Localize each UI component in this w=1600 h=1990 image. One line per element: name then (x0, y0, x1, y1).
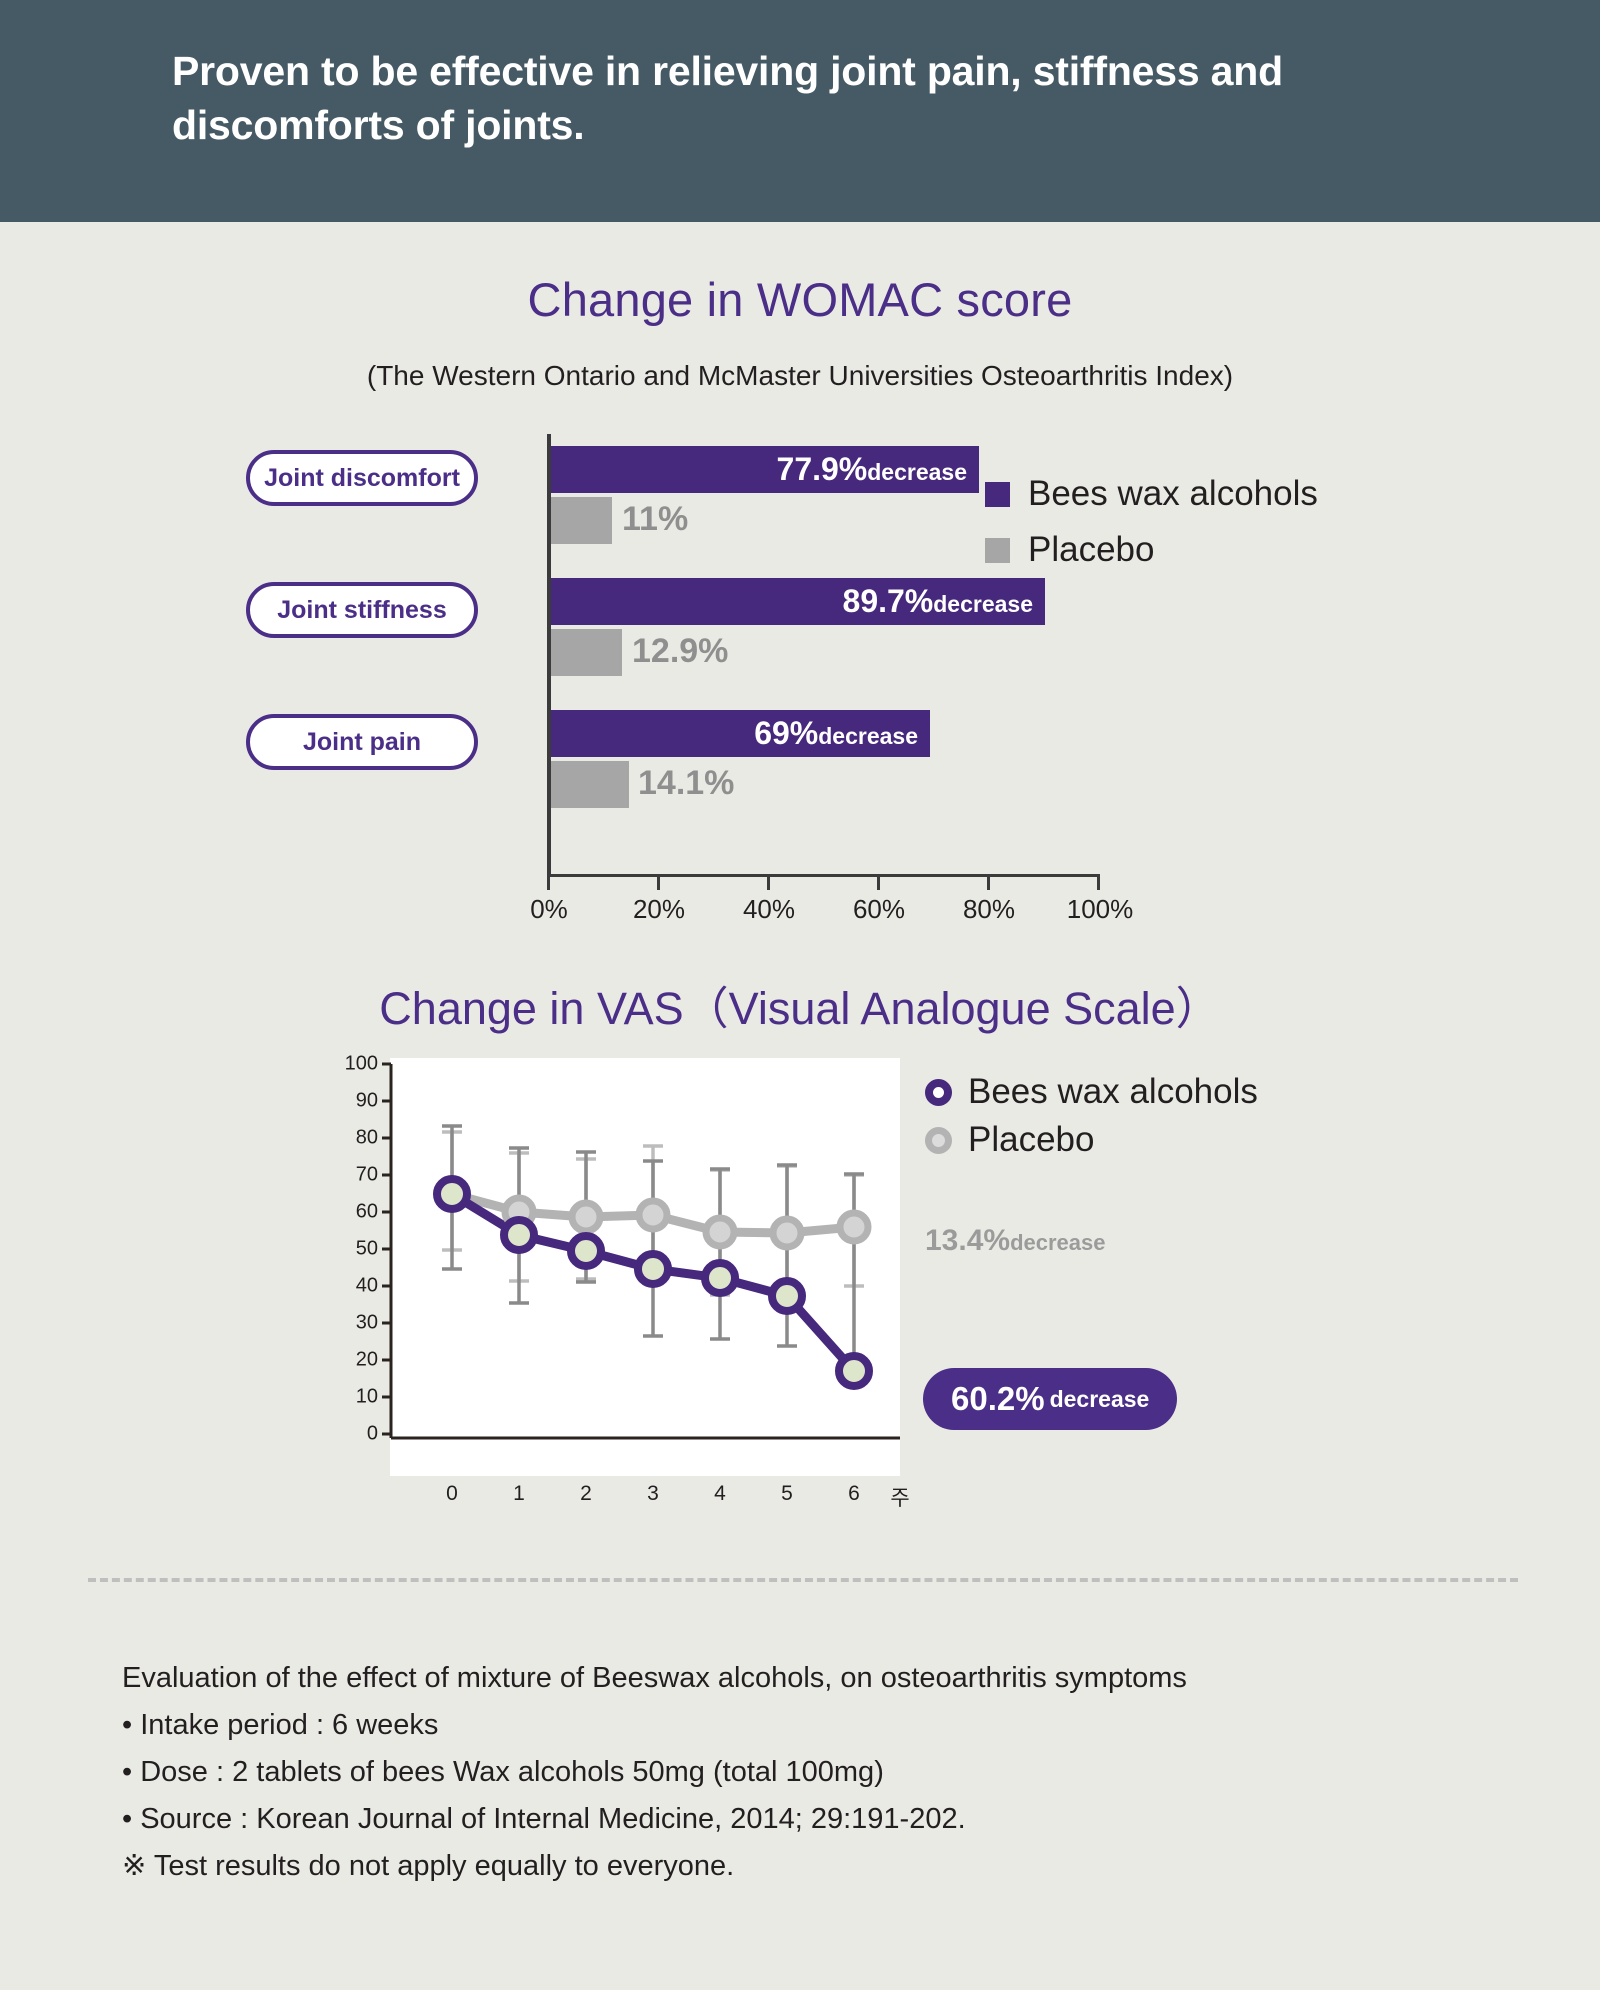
legend-item-bees-wax-alcohols: Bees wax alcohols (985, 466, 1385, 522)
legend-item-placebo: Placebo (985, 522, 1385, 578)
legend-circle-icon-gray (925, 1127, 952, 1154)
legend-swatch-icon-gray (985, 538, 1010, 563)
vas-legend-label-placebo: Placebo (968, 1120, 1094, 1160)
x-tick-label-80: 80% (963, 894, 1015, 925)
womac-chart-subtitle: (The Western Ontario and McMaster Univer… (0, 360, 1600, 392)
vas-x-label-0: 0 (446, 1482, 458, 1506)
footnote-line-5: ※ Test results do not apply equally to e… (122, 1843, 1522, 1890)
x-tick-80 (987, 874, 990, 890)
x-tick-40 (767, 874, 770, 890)
womac-legend: Bees wax alcohols Placebo (985, 466, 1385, 578)
x-tick-label-20: 20% (633, 894, 685, 925)
x-tick-100 (1097, 874, 1100, 890)
vas-x-label-5: 5 (781, 1482, 793, 1506)
footnote-line-4: • Source : Korean Journal of Internal Me… (122, 1796, 1522, 1843)
vas-x-tick-labels: 0 1 2 3 4 5 6 주 (330, 1482, 910, 1512)
x-tick-label-0: 0% (530, 894, 568, 925)
vas-plot-svg (330, 1058, 910, 1488)
bar-placebo-joint-pain (551, 761, 629, 808)
bar-value-treatment-joint-pain: 69%decrease (754, 715, 918, 752)
x-tick-60 (877, 874, 880, 890)
vas-x-label-4: 4 (714, 1482, 726, 1506)
vas-treatment-decrease-badge: 60.2%decrease (923, 1368, 1177, 1430)
vas-x-label-2: 2 (580, 1482, 592, 1506)
vas-legend-label-bees-wax-alcohols: Bees wax alcohols (968, 1072, 1258, 1112)
section-divider (88, 1578, 1518, 1582)
x-tick-label-60: 60% (853, 894, 905, 925)
vas-legend: Bees wax alcohols Placebo (925, 1068, 1345, 1164)
legend-label-placebo: Placebo (1028, 530, 1154, 570)
bar-treatment-joint-stiffness: 89.7%decrease (551, 578, 1045, 625)
x-tick-label-40: 40% (743, 894, 795, 925)
vas-chart-title: Change in VAS（Visual Analogue Scale） (0, 972, 1600, 1037)
bar-placebo-joint-discomfort (551, 497, 612, 544)
page-title: Proven to be effective in relieving join… (172, 44, 1432, 152)
vas-line-chart: 100 90 80 70 60 50 40 30 20 10 0 (330, 1058, 910, 1498)
category-pill-joint-discomfort[interactable]: Joint discomfort (246, 450, 478, 506)
bar-value-placebo-joint-pain: 14.1% (638, 764, 734, 803)
footnote-line-1: Evaluation of the effect of mixture of B… (122, 1655, 1522, 1702)
bar-treatment-joint-discomfort: 77.9%decrease (551, 446, 979, 493)
footnote-line-3: • Dose : 2 tablets of bees Wax alcohols … (122, 1749, 1522, 1796)
vas-placebo-decrease-note: 13.4%decrease (925, 1224, 1106, 1258)
legend-circle-icon-purple (925, 1079, 952, 1106)
vas-x-axis-unit: 주 (890, 1482, 909, 1512)
bar-chart-x-axis (547, 874, 1099, 877)
x-tick-20 (657, 874, 660, 890)
womac-chart-title: Change in WOMAC score (0, 272, 1600, 327)
category-pill-joint-pain[interactable]: Joint pain (246, 714, 478, 770)
vas-x-label-3: 3 (647, 1482, 659, 1506)
category-pill-joint-stiffness[interactable]: Joint stiffness (246, 582, 478, 638)
x-tick-label-100: 100% (1067, 894, 1134, 925)
bar-value-treatment-joint-discomfort: 77.9%decrease (777, 451, 967, 488)
legend-label-bees-wax-alcohols: Bees wax alcohols (1028, 474, 1318, 514)
vas-x-label-6: 6 (848, 1482, 860, 1506)
vas-legend-item-bees-wax-alcohols: Bees wax alcohols (925, 1068, 1345, 1116)
footnotes-block: Evaluation of the effect of mixture of B… (122, 1655, 1522, 1890)
bar-value-placebo-joint-discomfort: 11% (622, 500, 688, 539)
bar-value-placebo-joint-stiffness: 12.9% (632, 632, 728, 671)
bar-placebo-joint-stiffness (551, 629, 622, 676)
bar-value-treatment-joint-stiffness: 89.7%decrease (843, 583, 1033, 620)
vas-legend-item-placebo: Placebo (925, 1116, 1345, 1164)
legend-swatch-icon-purple (985, 482, 1010, 507)
x-tick-0 (547, 874, 550, 890)
footnote-line-2: • Intake period : 6 weeks (122, 1702, 1522, 1749)
vas-x-label-1: 1 (513, 1482, 525, 1506)
bar-treatment-joint-pain: 69%decrease (551, 710, 930, 757)
